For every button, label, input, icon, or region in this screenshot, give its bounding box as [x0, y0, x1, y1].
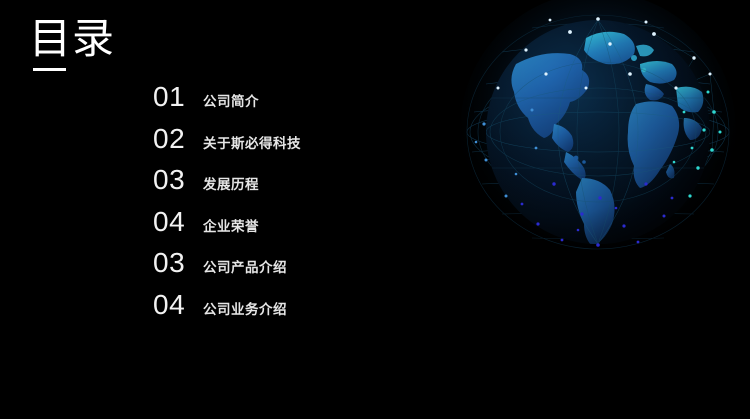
page-title: 目录 — [29, 16, 229, 62]
list-item[interactable]: 03 发展历程 — [153, 165, 433, 207]
list-item[interactable]: 01 公司简介 — [153, 82, 433, 124]
toc-item-number: 03 — [153, 248, 197, 278]
list-item[interactable]: 04 企业荣誉 — [153, 207, 433, 249]
toc-item-number: 03 — [153, 165, 197, 195]
toc-item-label: 公司简介 — [203, 94, 259, 110]
toc-item-number: 04 — [153, 290, 197, 320]
toc-item-number: 04 — [153, 207, 197, 237]
table-of-contents: 01 公司简介 02 关于斯必得科技 03 发展历程 04 企业荣誉 03 公司… — [153, 82, 433, 331]
list-item[interactable]: 03 公司产品介绍 — [153, 248, 433, 290]
list-item[interactable]: 04 公司业务介绍 — [153, 290, 433, 332]
toc-item-number: 01 — [153, 82, 197, 112]
toc-item-number: 02 — [153, 124, 197, 154]
toc-item-label: 公司产品介绍 — [203, 260, 287, 276]
list-item[interactable]: 02 关于斯必得科技 — [153, 124, 433, 166]
toc-item-label: 关于斯必得科技 — [203, 136, 301, 152]
globe-network-icon — [458, 0, 738, 282]
toc-item-label: 企业荣誉 — [203, 219, 259, 235]
toc-item-label: 公司业务介绍 — [203, 302, 287, 318]
toc-item-label: 发展历程 — [203, 177, 259, 193]
slide-canvas: 目录 01 公司简介 02 关于斯必得科技 03 发展历程 04 企业荣誉 03… — [0, 0, 750, 419]
title-underline-accent — [33, 68, 66, 71]
page-title-block: 目录 — [29, 16, 229, 62]
